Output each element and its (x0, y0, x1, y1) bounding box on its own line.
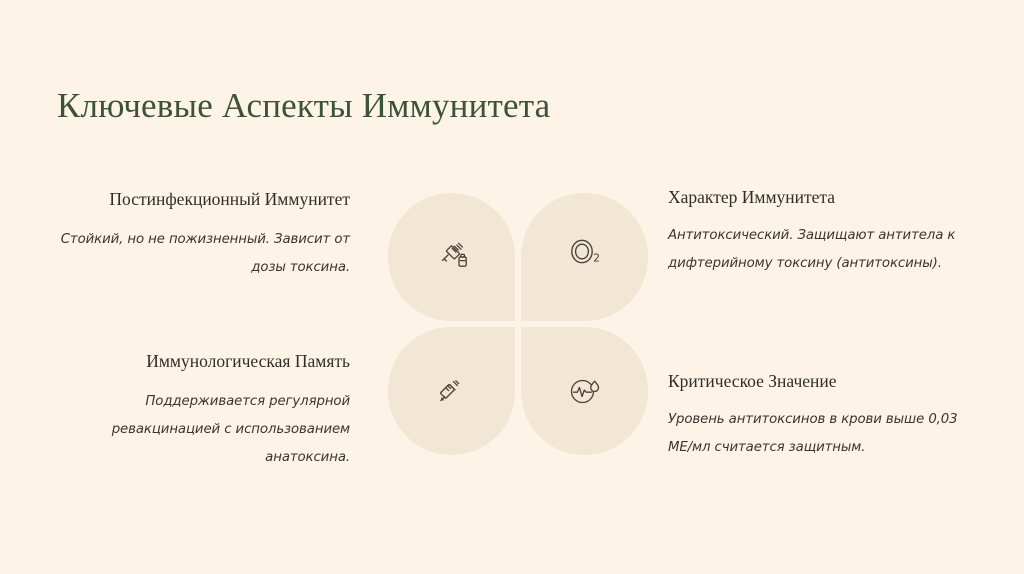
info-block-bottom-right: Критическое Значение Уровень антитоксино… (668, 368, 958, 462)
petal-top-left (388, 193, 515, 321)
slide-canvas: Ключевые Аспекты Иммунитета Постинфекцио… (0, 0, 1024, 574)
info-block-bottom-left: Иммунологическая Память Поддерживается р… (60, 348, 350, 472)
page-title: Ключевые Аспекты Иммунитета (57, 84, 550, 128)
petal-top-right: 2 (521, 193, 648, 321)
svg-text:2: 2 (593, 252, 600, 264)
info-body-immunity-character: Антитоксический. Защищают антитела к диф… (668, 222, 958, 278)
info-block-top-right: Характер Иммунитета Антитоксический. Защ… (668, 184, 958, 278)
info-heading-immunity-character: Характер Иммунитета (668, 184, 958, 210)
info-heading-immunological-memory: Иммунологическая Память (60, 348, 350, 374)
info-body-immunological-memory: Поддерживается регулярной ревакцинацией … (60, 388, 350, 472)
syringe-vial-icon (439, 239, 471, 276)
clover-diagram: 2 (388, 193, 648, 455)
info-heading-post-infection: Постинфекционный Иммунитет (60, 186, 350, 212)
syringe-icon (436, 377, 464, 410)
petal-bottom-left (388, 327, 515, 455)
info-block-top-left: Постинфекционный Иммунитет Стойкий, но н… (60, 186, 350, 282)
info-body-critical-value: Уровень антитоксинов в крови выше 0,03 М… (668, 406, 958, 462)
oxygen-o2-icon: 2 (568, 238, 606, 273)
petal-bottom-right (521, 327, 648, 455)
info-heading-critical-value: Критическое Значение (668, 368, 958, 394)
blood-pulse-drop-icon (569, 376, 601, 411)
info-body-post-infection: Стойкий, но не пожизненный. Зависит от д… (60, 226, 350, 282)
